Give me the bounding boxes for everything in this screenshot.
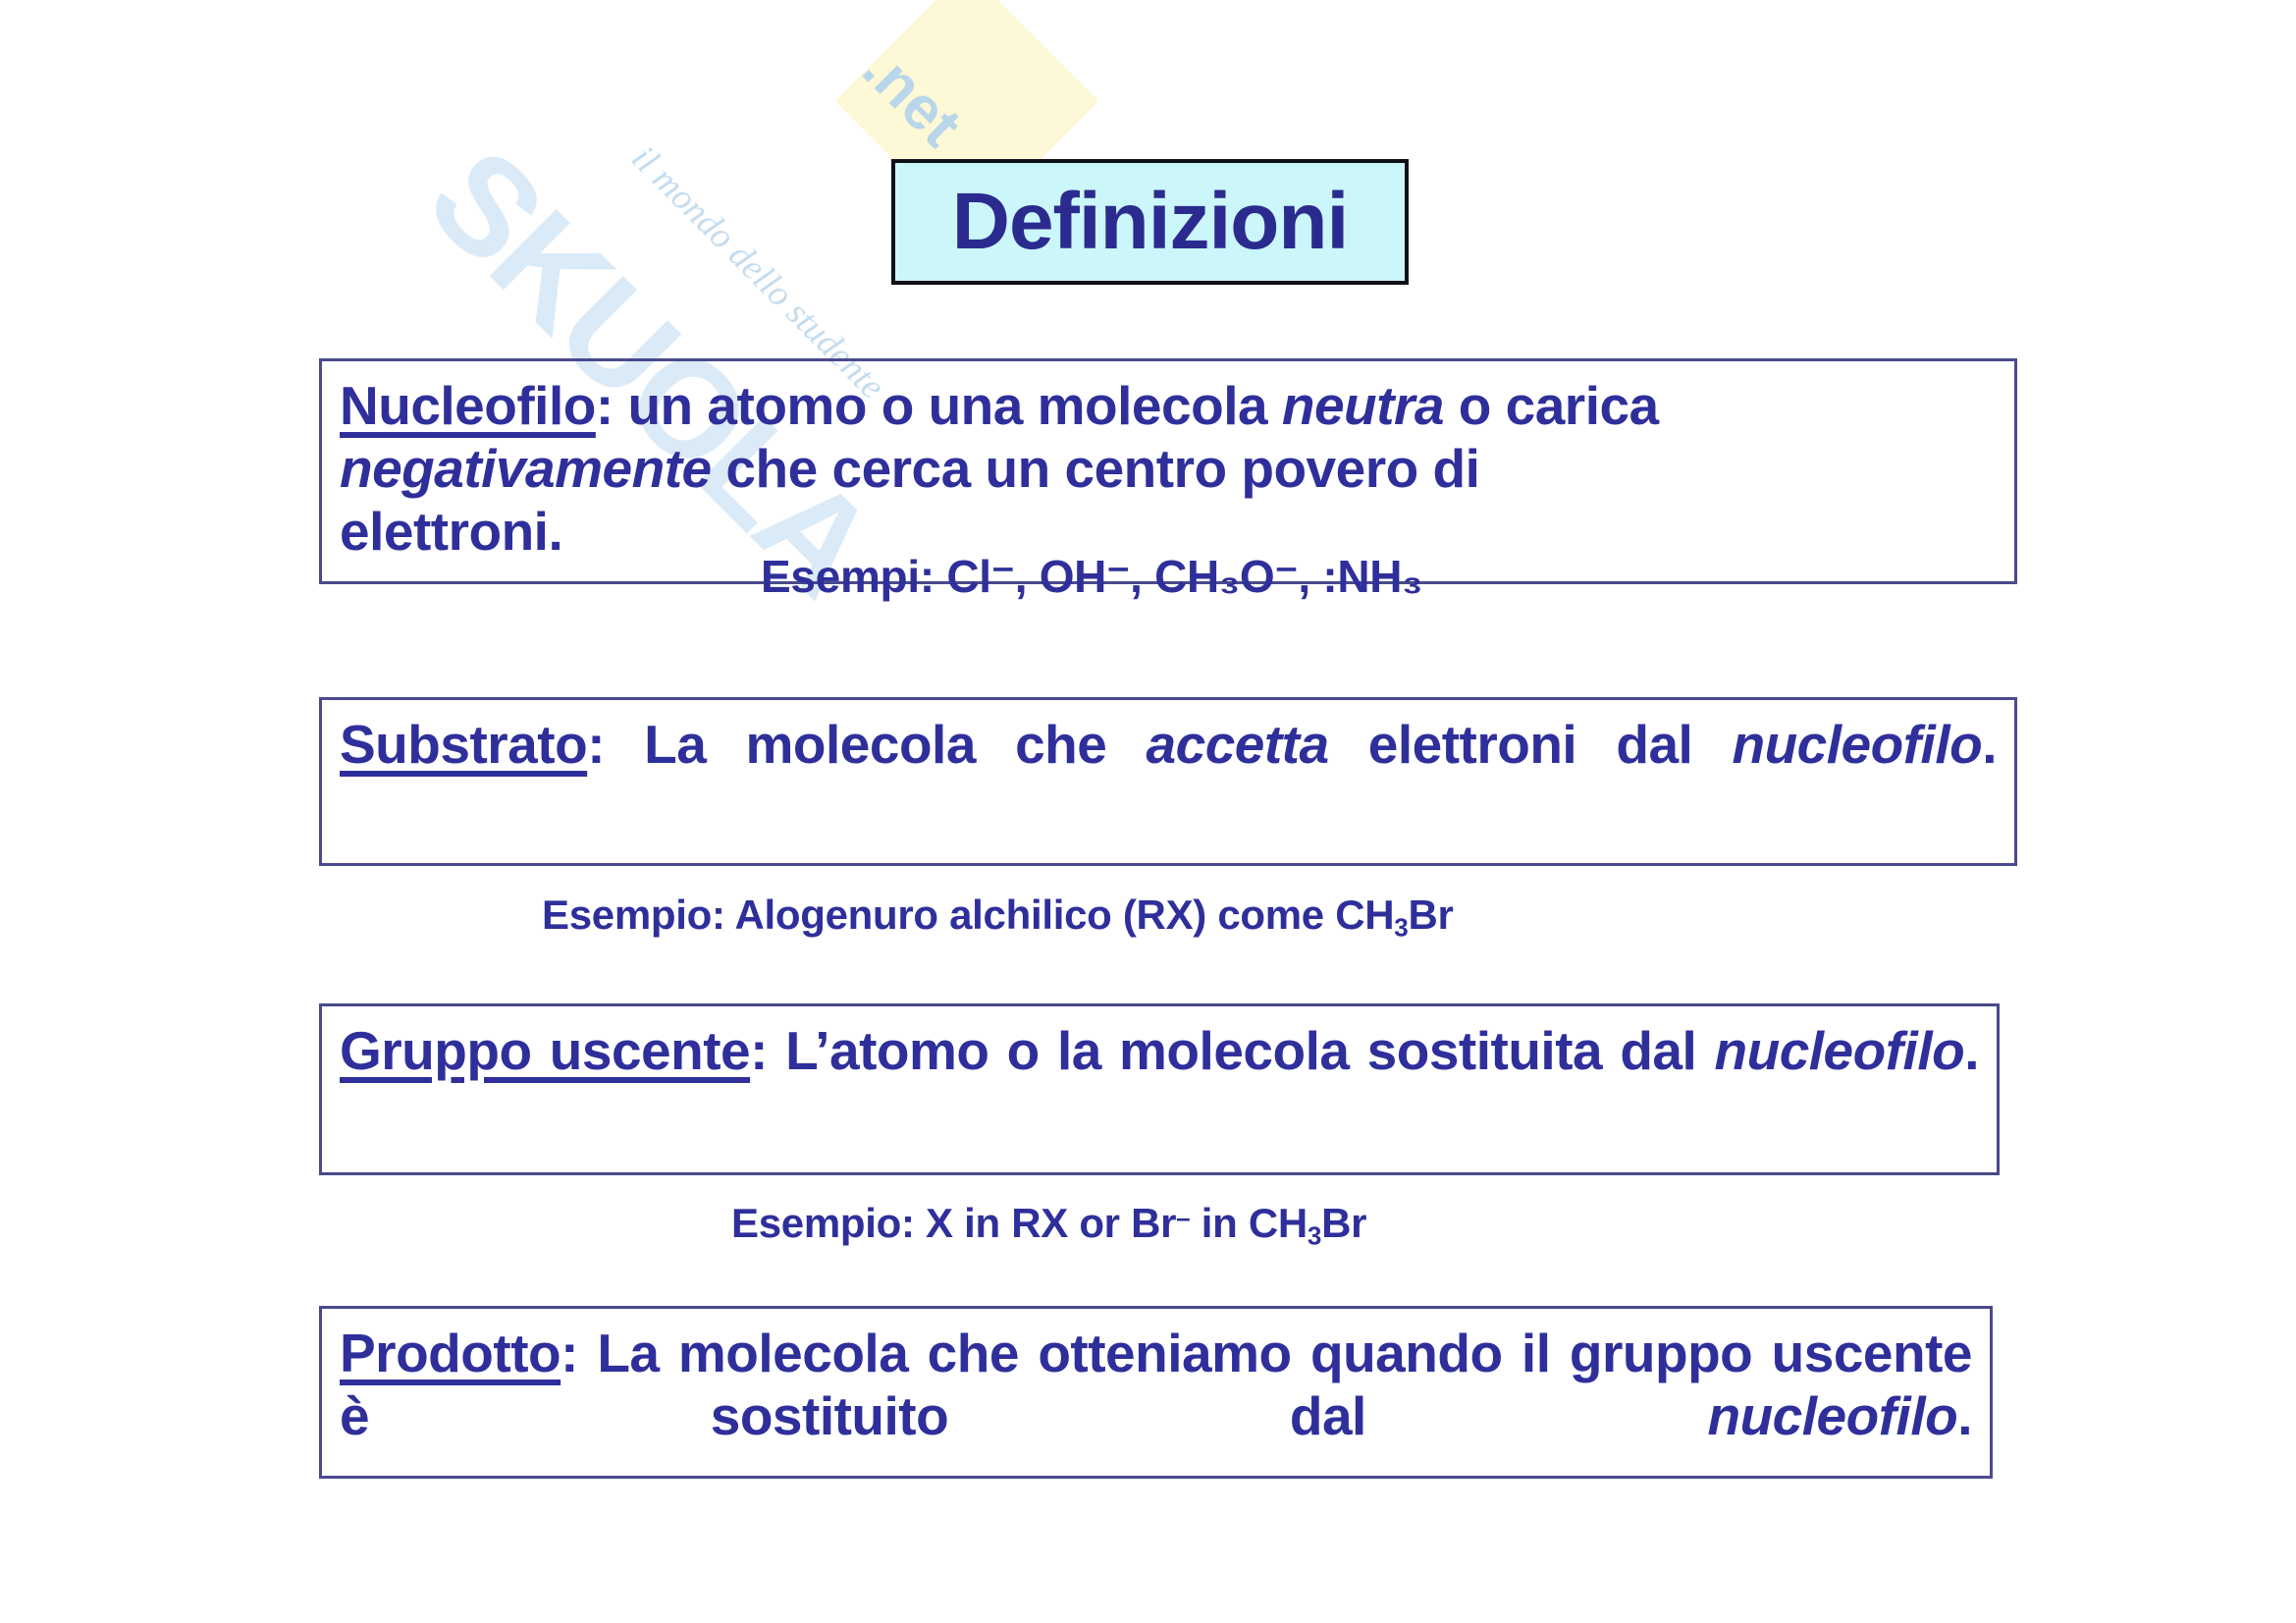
- watermark-suffix: .net: [849, 34, 975, 160]
- example-gruppo-text-after: Br: [1321, 1200, 1366, 1246]
- example-gruppo-text-mid: in CH: [1190, 1200, 1308, 1246]
- substrato-line2b: .: [1982, 714, 1997, 775]
- example-gruppo-sup: –: [1176, 1203, 1190, 1232]
- page-title: Definizioni: [952, 182, 1349, 262]
- nucleofilo-line1b: o carica: [1444, 375, 1659, 436]
- definition-text-substrato: Substrato: La molecola che accetta elett…: [340, 714, 1997, 839]
- example-nucleofilo-item-1: Cl⁻: [946, 551, 1014, 602]
- term-prodotto: Prodotto: [340, 1323, 561, 1383]
- term-colon-gruppo: :: [750, 1020, 768, 1081]
- example-substrato-sub: 3: [1394, 912, 1408, 942]
- example-substrato-label: Esempio:: [542, 892, 725, 938]
- example-gruppo-uscente: Esempio: X in RX or Br– in CH3Br: [731, 1200, 1366, 1251]
- prodotto-italic-nucleofilo: nucleofilo: [1707, 1385, 1957, 1446]
- prodotto-line1a: La molecola che otteniamo quando il: [578, 1323, 1551, 1383]
- nucleofilo-italic-neutra: neutra: [1282, 375, 1444, 436]
- definition-text-gruppo-uscente: Gruppo uscente: L’atomo o la molecola so…: [340, 1020, 1979, 1146]
- term-colon-prodotto: :: [561, 1323, 578, 1383]
- definition-box-substrato: Substrato: La molecola che accetta elett…: [319, 697, 2017, 866]
- comma-3: ,: [1298, 551, 1309, 602]
- nucleofilo-line1a: un atomo o una molecola: [614, 375, 1282, 436]
- slide-title-box: Definizioni: [891, 159, 1409, 285]
- example-nucleofilo-label: Esempi:: [761, 551, 934, 602]
- nucleofilo-line2b: che cerca un centro povero di: [712, 438, 1480, 499]
- definition-box-prodotto: Prodotto: La molecola che otteniamo quan…: [319, 1306, 1993, 1479]
- example-nucleofilo-item-4: :NH₃: [1322, 551, 1422, 602]
- definition-box-gruppo-uscente: Gruppo uscente: L’atomo o la molecola so…: [319, 1003, 2000, 1175]
- substrato-line1a: La molecola che: [605, 714, 1147, 775]
- example-substrato-text: Alogenuro alchilico (RX) come CH: [734, 892, 1394, 938]
- example-gruppo-label: Esempio:: [731, 1200, 915, 1246]
- term-colon-nucleofilo: :: [596, 375, 614, 436]
- example-nucleofilo: Esempi: Cl⁻, OH⁻, CH₃O⁻, :NH₃: [761, 550, 1422, 603]
- nucleofilo-line3: elettroni.: [340, 501, 562, 562]
- term-substrato: Substrato: [340, 714, 587, 775]
- substrato-italic-accetta: accetta: [1147, 714, 1329, 775]
- gruppo-italic-nucleofilo: nucleofilo: [1715, 1020, 1965, 1081]
- example-nucleofilo-item-3: CH₃O⁻: [1154, 551, 1298, 602]
- gruppo-line1a: L’atomo o la molecola sostituita: [768, 1020, 1602, 1081]
- term-colon-substrato: :: [587, 714, 605, 775]
- term-nucleofilo: Nucleofilo: [340, 375, 596, 436]
- comma-1: ,: [1015, 551, 1027, 602]
- definition-text-nucleofilo: Nucleofilo: un atomo o una molecola neut…: [340, 375, 1997, 563]
- substrato-italic-nucleofilo: nucleofilo: [1732, 714, 1982, 775]
- definition-text-prodotto: Prodotto: La molecola che otteniamo quan…: [340, 1323, 1972, 1510]
- substrato-line1b: elettroni dal: [1329, 714, 1733, 775]
- example-gruppo-text: X in RX or Br: [926, 1200, 1176, 1246]
- example-nucleofilo-item-2: OH⁻: [1040, 551, 1130, 602]
- prodotto-line2b: .: [1957, 1385, 1972, 1446]
- gruppo-line2b: .: [1964, 1020, 1979, 1081]
- example-substrato-text-after: Br: [1408, 892, 1453, 938]
- example-gruppo-sub: 3: [1308, 1220, 1321, 1250]
- comma-2: ,: [1130, 551, 1142, 602]
- nucleofilo-italic-negativamente: negativamente: [340, 438, 712, 499]
- example-substrato: Esempio: Alogenuro alchilico (RX) come C…: [542, 892, 1454, 943]
- term-gruppo-uscente: Gruppo uscente: [340, 1020, 750, 1081]
- gruppo-line2a: dal: [1620, 1020, 1714, 1081]
